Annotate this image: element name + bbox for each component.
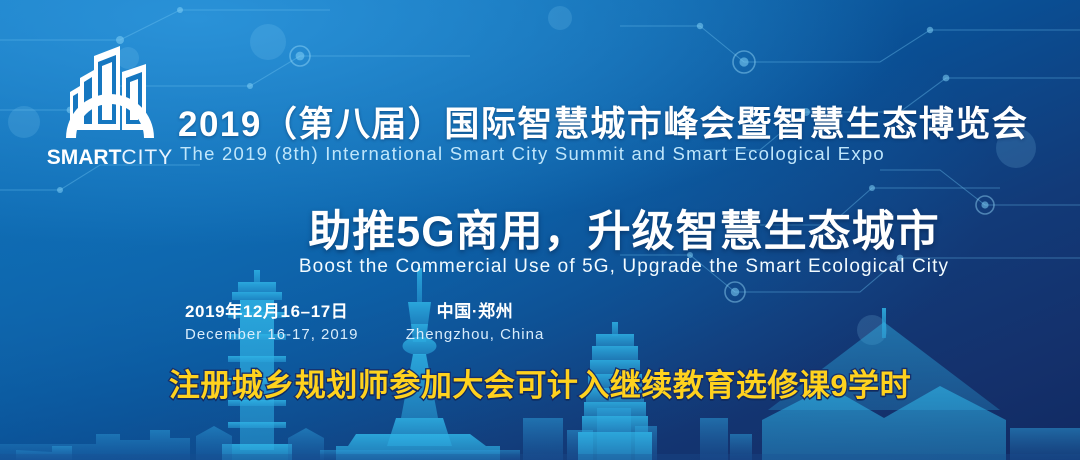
title-en: The 2019 (8th) International Smart City … xyxy=(180,143,1060,165)
event-date: 2019年12月16–17日 December 16-17, 2019 xyxy=(185,297,358,343)
event-date-en: December 16-17, 2019 xyxy=(185,326,358,343)
event-meta: 2019年12月16–17日 December 16-17, 2019 中国·郑… xyxy=(185,297,615,343)
logo-word-smart: SMART xyxy=(47,146,122,169)
credit-hours-note: 注册城乡规划师参加大会可计入继续教育选修课9学时 xyxy=(0,360,1080,405)
event-location-en: Zhengzhou, China xyxy=(400,326,550,343)
logo-wordmark: SMARTCITY xyxy=(40,147,180,168)
event-location: 中国·郑州 Zhengzhou, China xyxy=(400,297,550,343)
logo-word-city: CITY xyxy=(121,146,173,169)
event-date-cn: 2019年12月16–17日 xyxy=(185,297,358,322)
theme-en: Boost the Commercial Use of 5G, Upgrade … xyxy=(184,256,1064,278)
smart-city-logo: SMARTCITY xyxy=(40,34,180,174)
title-cn: 2019（第八届）国际智慧城市峰会暨智慧生态博览会 xyxy=(178,96,1058,147)
smart-city-buildings-icon xyxy=(40,34,180,149)
theme-cn: 助推5G商用，升级智慧生态城市 xyxy=(184,197,1064,259)
event-location-cn: 中国·郑州 xyxy=(400,297,550,322)
conference-banner: SMARTCITY 2019（第八届）国际智慧城市峰会暨智慧生态博览会 The … xyxy=(0,0,1080,460)
